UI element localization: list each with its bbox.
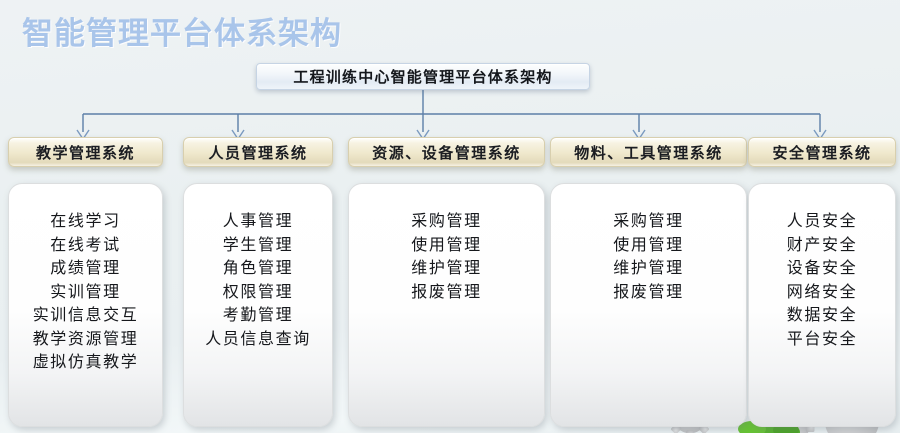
list-item: 角色管理 bbox=[223, 257, 293, 281]
list-item: 平台安全 bbox=[787, 328, 857, 352]
list-item: 成绩管理 bbox=[50, 257, 120, 281]
list-item: 财产安全 bbox=[787, 234, 857, 258]
list-item: 采购管理 bbox=[411, 210, 481, 234]
list-item: 学生管理 bbox=[223, 234, 293, 258]
list-item: 使用管理 bbox=[411, 234, 481, 258]
list-item: 维护管理 bbox=[411, 257, 481, 281]
list-item: 虚拟仿真教学 bbox=[33, 351, 139, 375]
column-body-resource-equipment: 采购管理 使用管理 维护管理 报废管理 bbox=[348, 183, 545, 427]
column-header-label: 物料、工具管理系统 bbox=[574, 142, 723, 163]
list-item: 使用管理 bbox=[613, 234, 683, 258]
list-item: 人事管理 bbox=[223, 210, 293, 234]
column-body-personnel: 人事管理 学生管理 角色管理 权限管理 考勤管理 人员信息查询 bbox=[183, 183, 333, 427]
list-item: 维护管理 bbox=[613, 257, 683, 281]
column-header-label: 教学管理系统 bbox=[36, 142, 135, 163]
list-item: 实训信息交互 bbox=[33, 304, 139, 328]
list-item: 报废管理 bbox=[613, 281, 683, 305]
list-item: 人员安全 bbox=[787, 210, 857, 234]
column-header-label: 资源、设备管理系统 bbox=[372, 142, 521, 163]
root-node-label: 工程训练中心智能管理平台体系架构 bbox=[293, 66, 552, 87]
column-header-teaching[interactable]: 教学管理系统 bbox=[8, 137, 163, 167]
list-item: 实训管理 bbox=[50, 281, 120, 305]
list-item: 人员信息查询 bbox=[205, 328, 311, 352]
list-item: 数据安全 bbox=[787, 304, 857, 328]
column-body-teaching: 在线学习 在线考试 成绩管理 实训管理 实训信息交互 教学资源管理 虚拟仿真教学 bbox=[8, 183, 163, 427]
column-header-label: 安全管理系统 bbox=[772, 142, 871, 163]
list-item: 报废管理 bbox=[411, 281, 481, 305]
column-header-safety[interactable]: 安全管理系统 bbox=[748, 137, 896, 167]
column-header-label: 人员管理系统 bbox=[208, 142, 307, 163]
root-node[interactable]: 工程训练中心智能管理平台体系架构 bbox=[256, 63, 590, 90]
list-item: 考勤管理 bbox=[223, 304, 293, 328]
column-header-personnel[interactable]: 人员管理系统 bbox=[183, 137, 333, 167]
column-header-material-tool[interactable]: 物料、工具管理系统 bbox=[550, 137, 747, 167]
list-item: 设备安全 bbox=[787, 257, 857, 281]
list-item: 教学资源管理 bbox=[33, 328, 139, 352]
list-item: 网络安全 bbox=[787, 281, 857, 305]
list-item: 在线学习 bbox=[50, 210, 120, 234]
column-body-safety: 人员安全 财产安全 设备安全 网络安全 数据安全 平台安全 bbox=[748, 183, 896, 427]
list-item: 在线考试 bbox=[50, 234, 120, 258]
column-header-resource-equipment[interactable]: 资源、设备管理系统 bbox=[348, 137, 545, 167]
list-item: 采购管理 bbox=[613, 210, 683, 234]
list-item: 权限管理 bbox=[223, 281, 293, 305]
column-body-material-tool: 采购管理 使用管理 维护管理 报废管理 bbox=[550, 183, 747, 427]
page-title: 智能管理平台体系架构 bbox=[22, 8, 342, 53]
